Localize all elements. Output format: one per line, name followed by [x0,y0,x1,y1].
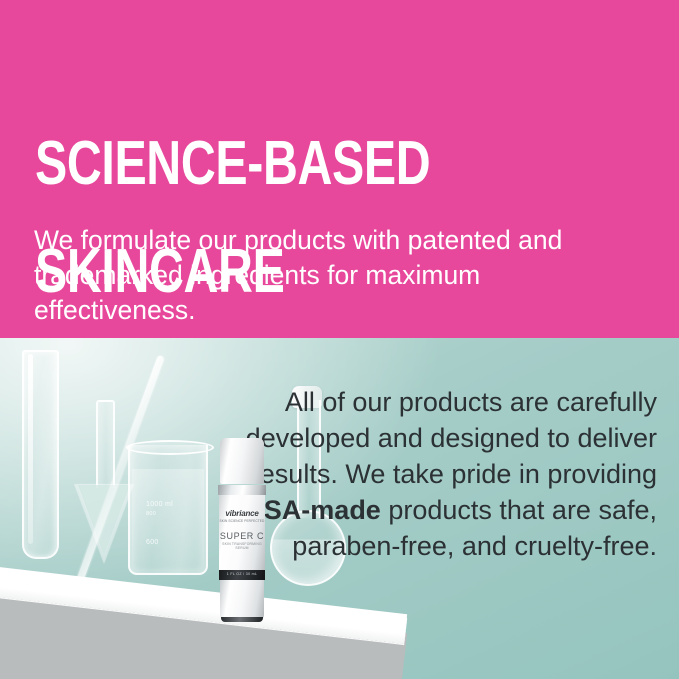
bottle-volume-text: 1 FL OZ / 30 mL [219,572,265,576]
conical-funnel-icon [74,400,134,564]
beaker-graduation-1: 1000 ml [146,501,176,508]
bottle-volume-band: 1 FL OZ / 30 mL [219,570,265,580]
philosophy-copy-part-1: All of our products are carefully develo… [246,387,657,489]
brand-tagline: SKIN SCIENCE PERFECTED [219,519,265,523]
product-bottle: vibriance SKIN SCIENCE PERFECTED SUPER C… [218,438,266,624]
beaker-graduation-3: 600 [146,539,176,546]
brand-logo-text: vibriance [219,509,265,518]
product-name: SUPER C [219,531,265,541]
headline-subcopy: We formulate our products with patented … [34,223,644,329]
bottle-base [220,580,264,620]
beaker-graduation-2: 800 [146,511,176,518]
bottle-collar [218,485,266,495]
beaker-icon: 1000 ml 800 600 [128,445,208,575]
funnel-stem [96,400,115,488]
bottle-foot [221,617,263,622]
philosophy-copy: All of our products are carefully develo… [237,385,657,565]
promo-banner: SCIENCE-BASED SKINCARE We formulate our … [0,0,679,679]
bottle-cap [220,438,264,484]
beaker-liquid [132,469,204,571]
product-subtitle: SKIN TRANSFORMING SERUM [219,542,265,550]
bottle-label: vibriance SKIN SCIENCE PERFECTED SUPER C… [219,495,265,570]
test-tube-icon [22,350,59,559]
product-philosophy-panel: 1000 ml 800 600 vibriance SKIN SCIENCE P… [0,338,679,679]
headline-line-1: SCIENCE-BASED [35,137,503,191]
science-based-skincare-panel: SCIENCE-BASED SKINCARE We formulate our … [0,0,679,338]
beaker-rim [126,440,214,455]
